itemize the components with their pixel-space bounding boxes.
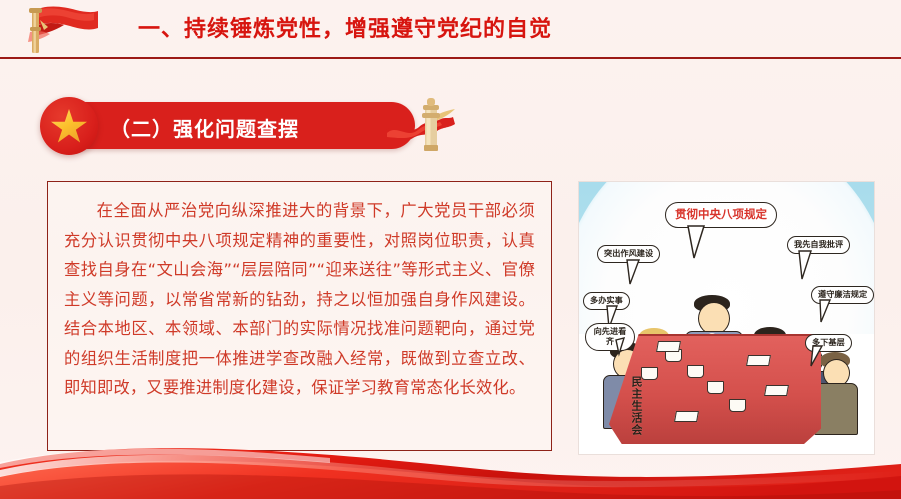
speech-bubble-5: 遵守廉洁规定 <box>811 286 874 304</box>
header-divider <box>0 57 901 59</box>
table-cup <box>729 399 746 412</box>
section-banner-circle <box>40 97 98 155</box>
section-title: （二）强化问题查摆 <box>110 113 299 142</box>
speech-bubble-4: 我先自我批评 <box>787 236 850 254</box>
gold-star-icon <box>51 109 87 145</box>
body-paragraph: 在全面从严治党向纵深推进大的背景下，广大党员干部必须充分认识贯彻中央八项规定精神… <box>64 196 535 403</box>
speech-bubble-6: 多下基层 <box>805 334 852 352</box>
illustration-image: 民主生活会 贯彻中央八项规定 突出作风建设 多办实事 <box>578 181 875 455</box>
table-cup <box>687 365 704 378</box>
table-cup <box>707 381 724 394</box>
section-banner: （二）强化问题查摆 <box>40 97 460 155</box>
table-paper <box>674 411 699 422</box>
red-flag-icon <box>14 4 100 56</box>
speech-bubble-3: 向先进看齐 <box>585 323 635 351</box>
table-paper <box>746 355 771 366</box>
table-cup <box>641 367 658 380</box>
table-banner-text: 民主生活会 <box>627 376 642 436</box>
table-paper <box>764 385 789 396</box>
speech-bubble-2: 多办实事 <box>583 292 630 310</box>
slide-header: 一、持续锤炼党性，增强遵守党纪的自觉 <box>0 0 901 59</box>
table-paper <box>656 341 681 352</box>
speech-bubble-main: 贯彻中央八项规定 <box>665 202 777 228</box>
body-text-box: 在全面从严治党向纵深推进大的背景下，广大党员干部必须充分认识贯彻中央八项规定精神… <box>47 181 552 451</box>
huabiao-ribbon-icon <box>385 93 460 155</box>
page-title: 一、持续锤炼党性，增强遵守党纪的自觉 <box>138 10 552 48</box>
slide-canvas: 一、持续锤炼党性，增强遵守党纪的自觉 （二）强化问题查摆 在全面从严治党向纵深推 <box>0 0 901 499</box>
speech-bubble-1: 突出作风建设 <box>597 245 660 263</box>
